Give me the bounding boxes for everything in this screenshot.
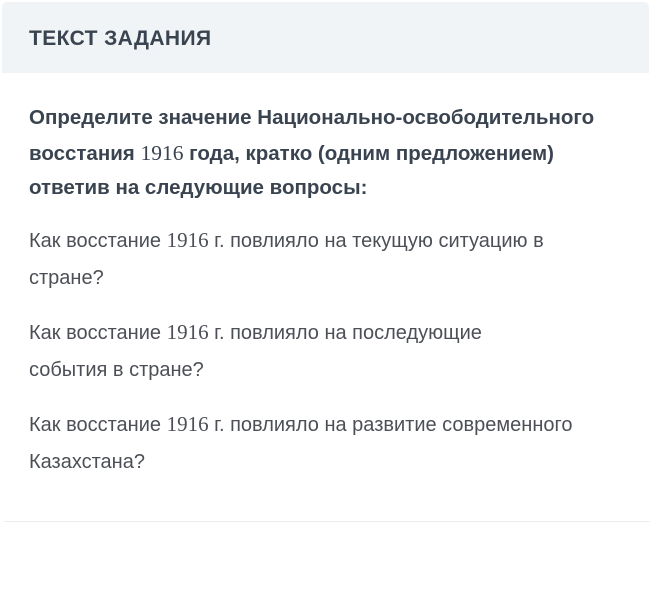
question-1-text-before-year: Как восстание	[29, 230, 167, 252]
question-item-2: Как восстание 1916 г. повлияло на послед…	[29, 314, 499, 389]
assignment-instruction: Определите значение Национально-освободи…	[29, 101, 601, 206]
question-1-year: 1916	[167, 228, 209, 252]
assignment-card-footer	[0, 522, 651, 606]
question-2-year: 1916	[167, 320, 209, 344]
instruction-year: 1916	[140, 141, 183, 165]
question-3-text-before-year: Как восстание	[29, 414, 167, 436]
page-title: ТЕКСТ ЗАДАНИЯ	[29, 28, 211, 49]
question-item-1: Как восстание 1916 г. повлияло на текущу…	[29, 222, 589, 297]
assignment-card-header: ТЕКСТ ЗАДАНИЯ	[2, 2, 649, 73]
assignment-card-body: Определите значение Национально-освободи…	[0, 73, 651, 522]
assignment-card: ТЕКСТ ЗАДАНИЯ Определите значение Национ…	[0, 0, 651, 606]
question-3-year: 1916	[167, 412, 209, 436]
question-2-text-before-year: Как восстание	[29, 322, 167, 344]
question-item-3: Как восстание 1916 г. повлияло на развит…	[29, 406, 589, 481]
